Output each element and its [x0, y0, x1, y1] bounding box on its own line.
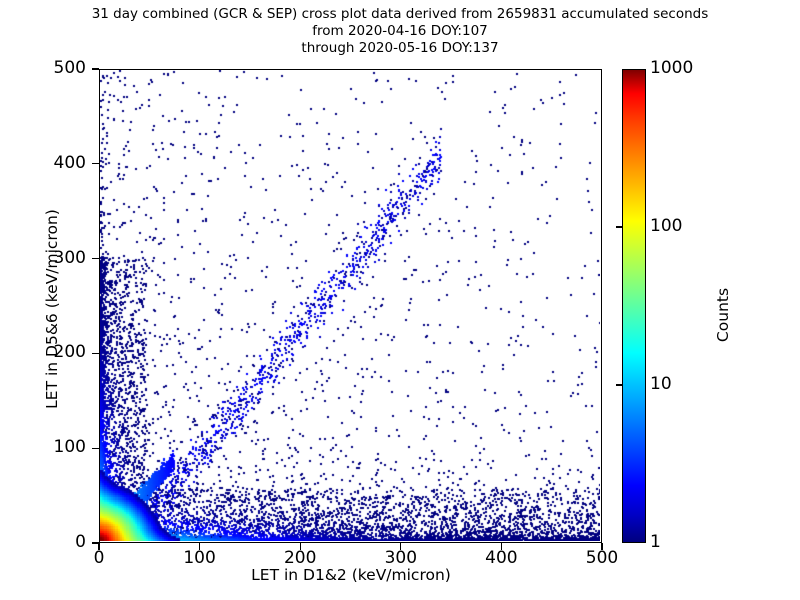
colorbar-title: Counts [714, 205, 732, 425]
plot-title: 31 day combined (GCR & SEP) cross plot d… [0, 6, 800, 57]
colorbar-gradient [622, 69, 646, 543]
colorbar-tick-mark [616, 384, 623, 385]
colorbar-tick-label: 1000 [650, 58, 693, 78]
y-axis-title: LET in D5&6 (keV/micron) [43, 94, 61, 524]
heatmap-canvas [100, 70, 600, 541]
y-tick-label: 500 [0, 58, 86, 78]
colorbar-tick-label: 1 [650, 532, 661, 552]
title-line-3: through 2020-05-16 DOY:137 [0, 40, 800, 57]
x-tick-label: 500 [562, 548, 642, 568]
x-axis-title: LET in D1&2 (keV/micron) [0, 566, 702, 584]
colorbar [622, 69, 646, 543]
title-line-2: from 2020-04-16 DOY:107 [0, 23, 800, 40]
x-tick-label: 400 [461, 548, 541, 568]
x-tick-label: 0 [59, 548, 139, 568]
x-tick-label: 300 [361, 548, 441, 568]
y-tick-mark [92, 353, 99, 354]
y-tick-mark [92, 258, 99, 259]
colorbar-tick-mark [616, 226, 623, 227]
title-line-1: 31 day combined (GCR & SEP) cross plot d… [0, 6, 800, 23]
x-tick-label: 200 [260, 548, 340, 568]
plot-area [99, 69, 602, 543]
y-tick-mark [92, 448, 99, 449]
y-tick-mark [92, 68, 99, 69]
x-tick-label: 100 [160, 548, 240, 568]
y-tick-mark [92, 163, 99, 164]
colorbar-tick-label: 100 [650, 216, 682, 236]
colorbar-tick-label: 10 [650, 374, 672, 394]
